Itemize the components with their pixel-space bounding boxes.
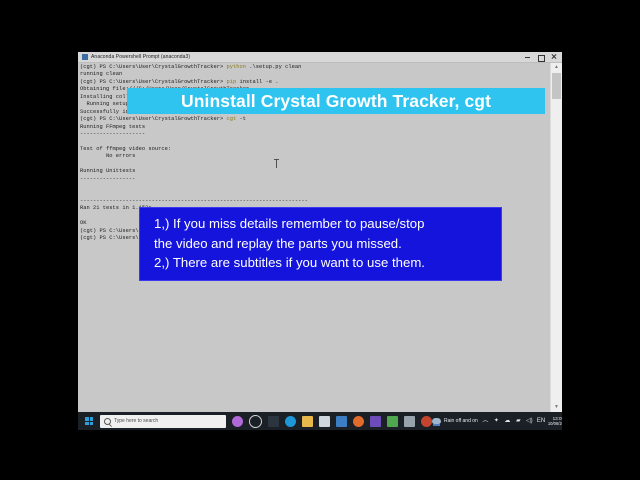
- search-placeholder: Type here to search: [114, 418, 158, 424]
- system-tray: Rain off and on ︿ ✦ ☁ ▰ ◁) EN 13:09 10/0…: [432, 416, 562, 427]
- weather-text: Rain off and on: [444, 418, 478, 424]
- terminal-scrollbar[interactable]: ▲ ▼: [550, 63, 562, 412]
- bluetooth-icon[interactable]: ✦: [493, 418, 500, 425]
- info-note-box: 1,) If you miss details remember to paus…: [139, 207, 502, 281]
- clock[interactable]: 13:09 10/06/2022: [548, 416, 562, 427]
- app-icon-task-view[interactable]: [268, 416, 279, 427]
- text-cursor-icon: [274, 159, 279, 168]
- terminal-line: [80, 161, 548, 168]
- app-icon-excel[interactable]: [387, 416, 398, 427]
- onedrive-icon[interactable]: ☁: [504, 418, 511, 425]
- terminal-line: [80, 138, 548, 145]
- terminal-line: Running FFmpeg tests: [80, 124, 548, 131]
- app-icon-teams[interactable]: [370, 416, 381, 427]
- note-line-3: 2,) There are subtitles if you want to u…: [154, 253, 501, 273]
- desktop: Anaconda Powershell Prompt (anaconda3) (…: [78, 52, 562, 430]
- terminal-line: [80, 183, 548, 190]
- terminal-line: (cgt) PS C:\Users\User\CrystalGrowthTrac…: [80, 116, 548, 123]
- terminal-line: (cgt) PS C:\Users\User\CrystalGrowthTrac…: [80, 64, 548, 71]
- slide-banner-text: Uninstall Crystal Growth Tracker, cgt: [181, 91, 491, 112]
- app-icon-store[interactable]: [319, 416, 330, 427]
- terminal-line: Running Unittests: [80, 168, 548, 175]
- search-input[interactable]: Type here to search: [100, 415, 226, 428]
- app-icon-cortana[interactable]: [249, 415, 262, 428]
- terminal-line: Test of ffmpeg video source:: [80, 146, 548, 153]
- volume-icon[interactable]: ◁): [526, 418, 533, 425]
- terminal-command: cgt: [226, 116, 236, 122]
- app-icon-file-explorer[interactable]: [302, 416, 313, 427]
- terminal-line: No errors: [80, 153, 548, 160]
- note-line-2: the video and replay the parts you misse…: [154, 234, 501, 254]
- terminal-line: (cgt) PS C:\Users\User\CrystalGrowthTrac…: [80, 79, 548, 86]
- app-icon-edge[interactable]: [285, 416, 296, 427]
- minimize-button[interactable]: [521, 52, 534, 62]
- close-button[interactable]: [547, 52, 560, 62]
- window-title: Anaconda Powershell Prompt (anaconda3): [91, 54, 190, 60]
- note-line-1: 1,) If you miss details remember to paus…: [154, 214, 501, 234]
- clock-date: 10/06/2022: [548, 421, 562, 427]
- app-icon-firefox[interactable]: [353, 416, 364, 427]
- video-frame: Anaconda Powershell Prompt (anaconda3) (…: [0, 0, 640, 480]
- terminal-line: --------------------: [80, 131, 548, 138]
- terminal-command: pip: [226, 79, 236, 85]
- rain-cloud-icon: [432, 418, 441, 424]
- start-button[interactable]: [78, 412, 100, 430]
- terminal-line: ----------------------------------------…: [80, 198, 548, 205]
- taskbar-apps: [232, 415, 432, 428]
- windows-logo-icon: [85, 417, 93, 425]
- chevron-up-icon[interactable]: ︿: [482, 418, 489, 425]
- terminal-app-icon: [82, 54, 88, 60]
- app-icon-mail[interactable]: [336, 416, 347, 427]
- terminal-line: [80, 190, 548, 197]
- network-icon[interactable]: ▰: [515, 418, 522, 425]
- terminal-command: python: [226, 64, 246, 70]
- slide-banner: Uninstall Crystal Growth Tracker, cgt: [127, 88, 545, 114]
- scroll-up-icon[interactable]: ▲: [551, 63, 562, 72]
- terminal-titlebar[interactable]: Anaconda Powershell Prompt (anaconda3): [78, 52, 562, 63]
- language-icon[interactable]: EN: [537, 418, 544, 425]
- search-icon: [104, 418, 111, 425]
- scrollbar-thumb[interactable]: [552, 73, 561, 99]
- terminal-line: running clean: [80, 71, 548, 78]
- app-icon-paint[interactable]: [232, 416, 243, 427]
- app-icon-anaconda[interactable]: [421, 416, 432, 427]
- maximize-button[interactable]: [534, 52, 547, 62]
- terminal-line: -----------------: [80, 176, 548, 183]
- app-icon-terminal[interactable]: [404, 416, 415, 427]
- scroll-down-icon[interactable]: ▼: [551, 403, 562, 412]
- taskbar: Type here to search Rain: [78, 412, 562, 430]
- weather-widget[interactable]: Rain off and on: [432, 418, 478, 424]
